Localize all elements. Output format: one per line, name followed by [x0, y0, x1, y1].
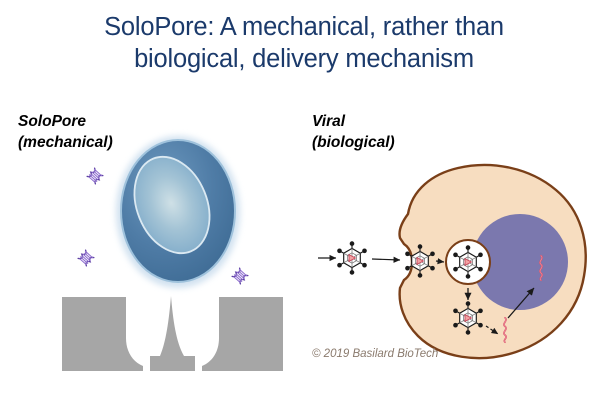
nozzle-block-left [62, 297, 143, 371]
caption-solopore-name: SoloPore [18, 112, 113, 133]
nozzle-block-right [202, 297, 283, 371]
dna-strand-3 [232, 268, 248, 284]
dna-strand-2 [78, 250, 94, 266]
solopore-nozzle [62, 296, 283, 371]
nozzle-spike-center [150, 296, 195, 371]
caption-solopore: SoloPore (mechanical) [18, 112, 113, 154]
arrow-entry-2 [372, 259, 400, 260]
virus-free [338, 242, 367, 274]
viral-diagram [318, 165, 586, 358]
slide-canvas: SoloPore: A mechanical, rather than biol… [0, 0, 600, 400]
solopore-diagram [62, 136, 283, 371]
title-line-2: biological, delivery mechanism [28, 44, 580, 76]
title-line-1: SoloPore: A mechanical, rather than [28, 12, 580, 44]
copyright-notice: © 2019 Basilard BioTech [312, 348, 438, 360]
dna-strand-1 [87, 168, 103, 184]
page-title: SoloPore: A mechanical, rather than biol… [28, 12, 580, 76]
caption-viral-name: Viral [312, 112, 395, 133]
caption-viral-qualifier: (biological) [312, 133, 395, 154]
caption-viral: Viral (biological) [312, 112, 395, 154]
caption-solopore-qualifier: (mechanical) [18, 133, 113, 154]
